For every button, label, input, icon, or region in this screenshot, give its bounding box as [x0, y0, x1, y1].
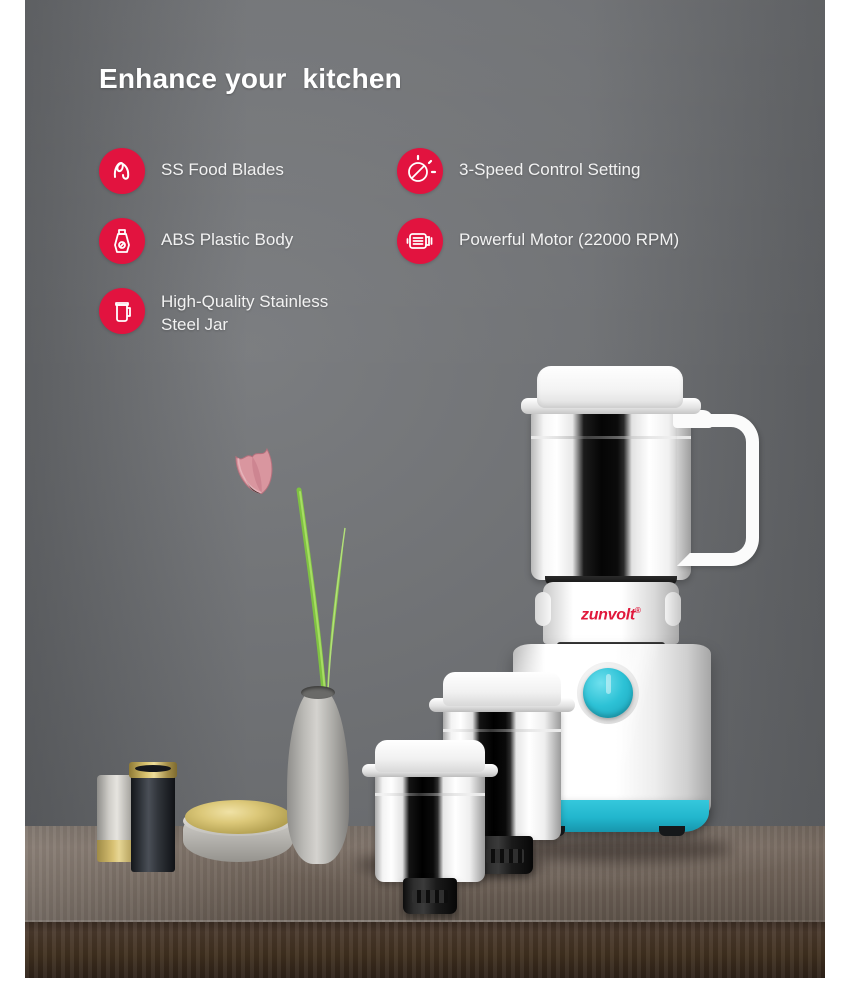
base-foot-right: [659, 826, 685, 836]
feature-list: SS Food Blades 3-Speed Control Setting: [99, 148, 799, 358]
main-jar-handle: [677, 414, 759, 566]
medium-jar-coupler: [477, 836, 533, 874]
blender-body-icon: [99, 218, 145, 264]
brand-name: zunvolt: [581, 606, 635, 623]
feature-stainless-jar: High-Quality Stainless Steel Jar: [99, 288, 328, 336]
feature-row-3: High-Quality Stainless Steel Jar: [99, 288, 799, 358]
product-photo: Enhance your kitchen SS Food Blades: [25, 0, 825, 978]
medium-jar-band: [443, 729, 561, 732]
marble-dish-top: [185, 800, 291, 834]
flower-vase: [287, 688, 349, 864]
small-jar-lid: [375, 740, 485, 772]
main-jar-band: [531, 436, 691, 439]
vase-mouth: [301, 686, 335, 699]
speed-control-knob[interactable]: [583, 668, 633, 718]
feature-abs-plastic-body: ABS Plastic Body: [99, 218, 293, 264]
feature-label: ABS Plastic Body: [161, 218, 293, 251]
feature-ss-food-blades: SS Food Blades: [99, 148, 284, 194]
tulip-stem: [283, 486, 353, 696]
trademark-symbol: ®: [635, 606, 641, 615]
feature-speed-control: 3-Speed Control Setting: [397, 148, 640, 194]
jar-icon: [99, 288, 145, 334]
speed-knob-icon: [397, 148, 443, 194]
feature-label: High-Quality Stainless Steel Jar: [161, 288, 328, 336]
motor-icon: [397, 218, 443, 264]
feature-row-2: ABS Plastic Body P: [99, 218, 799, 288]
small-jar-band: [375, 793, 485, 796]
small-jar-body: [375, 772, 485, 882]
feature-row-1: SS Food Blades 3-Speed Control Setting: [99, 148, 799, 218]
feature-label: Powerful Motor (22000 RPM): [459, 218, 679, 251]
table-front-edge: [25, 922, 825, 978]
small-jar-coupler: [403, 878, 457, 914]
feature-label: SS Food Blades: [161, 148, 284, 181]
feature-label: 3-Speed Control Setting: [459, 148, 640, 181]
feature-powerful-motor: Powerful Motor (22000 RPM): [397, 218, 679, 264]
dark-canister: [131, 768, 175, 872]
medium-jar-lid: [443, 672, 561, 706]
base-latch-right: [665, 592, 681, 626]
blade-icon: [99, 148, 145, 194]
dark-canister-mouth: [135, 765, 171, 772]
brand-logo: zunvolt®: [581, 606, 641, 624]
page-title: Enhance your kitchen: [99, 63, 402, 95]
base-latch-left: [535, 592, 551, 626]
product-banner: Enhance your kitchen SS Food Blades: [0, 0, 850, 995]
main-jar-lid: [537, 366, 683, 408]
